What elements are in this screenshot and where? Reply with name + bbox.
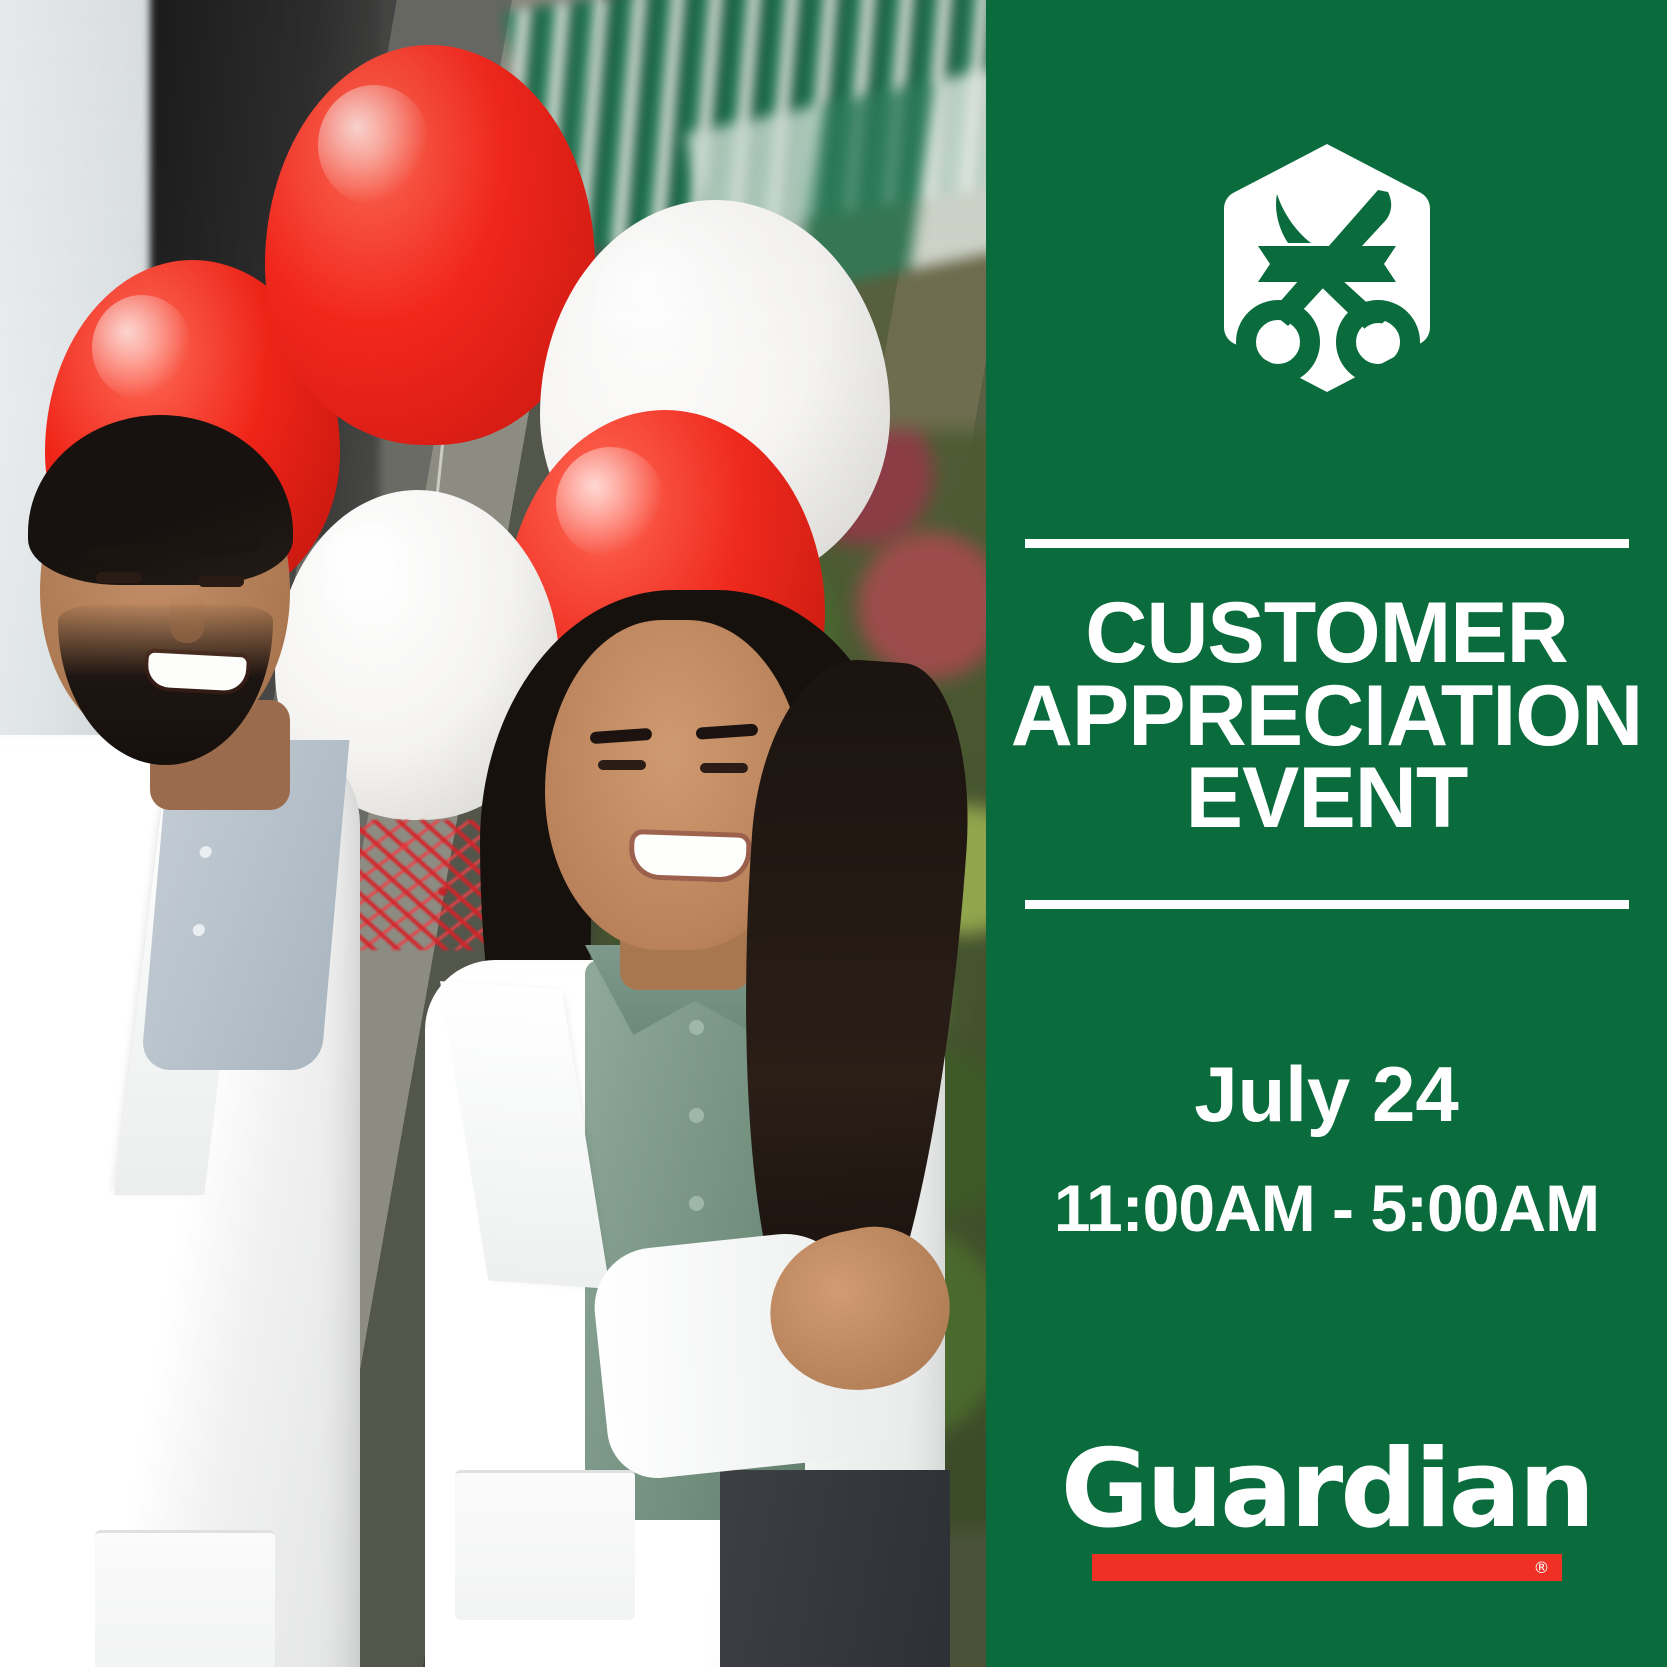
info-panel: CUSTOMER APPRECIATION EVENT July 24 11:0… xyxy=(986,0,1667,1667)
title-line-2: APPRECIATION xyxy=(1007,675,1647,758)
woman-eye xyxy=(598,760,646,770)
man-smile xyxy=(147,652,247,691)
scissors-cutting-ribbon-hexagon-icon xyxy=(1216,142,1438,394)
woman-smile xyxy=(633,834,746,878)
event-date: July 24 xyxy=(1194,1055,1459,1133)
man-eye xyxy=(96,572,142,583)
divider-top xyxy=(1025,539,1629,548)
divider-bottom xyxy=(1025,900,1629,909)
woman-trousers xyxy=(720,1470,950,1667)
event-time: 11:00AM - 5:00AM xyxy=(1054,1175,1599,1241)
event-photo xyxy=(0,0,986,1667)
man-coat-pocket xyxy=(95,1530,275,1667)
poster: CUSTOMER APPRECIATION EVENT July 24 11:0… xyxy=(0,0,1667,1667)
title-line-3: EVENT xyxy=(1007,757,1647,840)
registered-trademark-icon: ® xyxy=(1534,1560,1550,1576)
brand-underline-bar: ® xyxy=(1092,1554,1562,1581)
brand-logo: Guardian ® xyxy=(986,1436,1667,1581)
brand-name: Guardian xyxy=(1061,1436,1593,1544)
woman-coat-pocket xyxy=(455,1470,635,1620)
man-nose xyxy=(170,595,204,643)
title-line-1: CUSTOMER xyxy=(1007,592,1647,675)
page-title: CUSTOMER APPRECIATION EVENT xyxy=(1007,592,1647,840)
